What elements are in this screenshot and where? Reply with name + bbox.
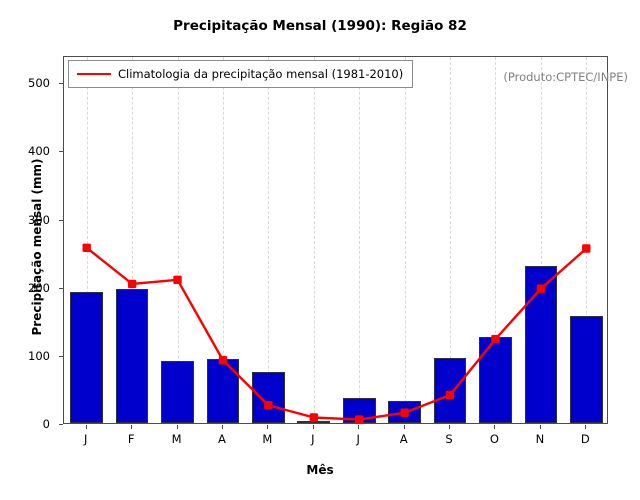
x-tick-label-2: M [157,432,197,446]
line-marker-m-4 [264,401,272,409]
climatology-line-markers [83,244,591,424]
line-marker-j-0 [83,244,91,252]
y-tick-mark [59,356,63,357]
x-tick-mark [86,425,87,429]
x-tick-mark [177,425,178,429]
x-tick-label-6: J [338,432,378,446]
x-tick-label-8: S [429,432,469,446]
line-marker-o-9 [491,335,499,343]
x-tick-mark [131,425,132,429]
x-tick-mark [540,425,541,429]
line-marker-a-7 [400,409,408,417]
x-tick-label-4: M [247,432,287,446]
legend-line-swatch [77,73,111,75]
plot-area [63,56,608,424]
y-axis-label: Precipitação mensal (mm) [30,117,44,377]
x-tick-label-10: N [520,432,560,446]
y-tick-mark [59,288,63,289]
climatology-line-series [64,57,608,424]
x-tick-label-0: J [66,432,106,446]
x-tick-mark [404,425,405,429]
x-tick-label-3: A [202,432,242,446]
x-tick-label-9: O [474,432,514,446]
product-credit-annotation: (Produto:CPTEC/INPE) [503,70,628,84]
chart-title: Precipitação Mensal (1990): Região 82 [0,18,640,34]
x-tick-mark [267,425,268,429]
line-marker-m-2 [173,276,181,284]
x-axis-label: Mês [0,463,640,477]
line-marker-a-3 [219,356,227,364]
x-tick-label-7: A [384,432,424,446]
x-tick-mark [449,425,450,429]
x-tick-mark [358,425,359,429]
line-marker-f-1 [128,280,136,288]
y-tick-mark [59,83,63,84]
x-tick-mark [585,425,586,429]
line-marker-d-11 [582,244,590,252]
chart-figure: Precipitação Mensal (1990): Região 82 01… [0,0,640,500]
line-marker-j-6 [355,415,363,423]
x-tick-label-5: J [293,432,333,446]
y-tick-label-0: 0 [10,417,50,431]
line-marker-j-5 [310,413,318,421]
x-tick-mark [222,425,223,429]
line-marker-n-10 [537,285,545,293]
x-tick-mark [313,425,314,429]
y-tick-mark [59,220,63,221]
legend-item-label: Climatologia da precipitação mensal (198… [118,67,403,81]
y-tick-mark [59,151,63,152]
chart-legend: Climatologia da precipitação mensal (198… [68,60,413,88]
line-marker-s-8 [446,391,454,399]
x-tick-mark [494,425,495,429]
x-tick-label-1: F [111,432,151,446]
y-tick-mark [59,424,63,425]
climatology-line-path [87,248,587,420]
y-tick-label-500: 500 [10,76,50,90]
x-tick-label-11: D [565,432,605,446]
